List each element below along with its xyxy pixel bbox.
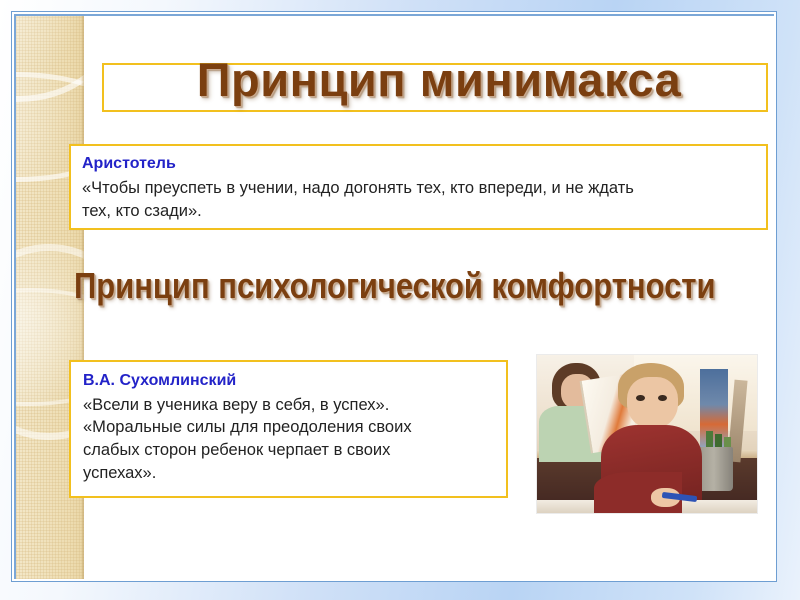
quote-text-aristotle-line-1: «Чтобы преуспеть в учении, надо догонять… bbox=[82, 177, 755, 200]
photo-boy-eye-left bbox=[636, 395, 645, 401]
photo-pencil-cup bbox=[698, 447, 733, 491]
slide-frame: Принцип минимакса Аристотель «Чтобы преу… bbox=[11, 11, 777, 582]
classroom-photo bbox=[537, 355, 757, 513]
title-box: Принцип минимакса bbox=[102, 63, 768, 112]
slide-canvas: Принцип минимакса Аристотель «Чтобы преу… bbox=[16, 16, 774, 579]
quote-box-aristotle: Аристотель «Чтобы преуспеть в учении, на… bbox=[69, 144, 768, 230]
photo-boy-face bbox=[627, 377, 678, 429]
quote-text-sukhomlinsky-line-2: «Моральные силы для преодоления своих bbox=[83, 416, 494, 439]
photo-boy-eye-right bbox=[658, 395, 667, 401]
page-title: Принцип минимакса bbox=[92, 52, 774, 107]
quote-text-sukhomlinsky-line-3: слабых сторон ребенок черпает в своих bbox=[83, 439, 494, 462]
quote-author-aristotle: Аристотель bbox=[82, 153, 755, 175]
slide: Принцип минимакса Аристотель «Чтобы преу… bbox=[0, 0, 800, 600]
quote-text-aristotle-line-2: тех, кто сзади». bbox=[82, 200, 755, 223]
section-subtitle: Принцип психологической комфортности bbox=[74, 265, 676, 307]
quote-author-sukhomlinsky: В.А. Сухомлинский bbox=[83, 370, 494, 392]
quote-box-sukhomlinsky: В.А. Сухомлинский «Всели в ученика веру … bbox=[69, 360, 508, 498]
quote-text-sukhomlinsky-line-4: успехах». bbox=[83, 462, 494, 485]
quote-text-sukhomlinsky-line-1: «Всели в ученика веру в себя, в успех». bbox=[83, 394, 494, 417]
